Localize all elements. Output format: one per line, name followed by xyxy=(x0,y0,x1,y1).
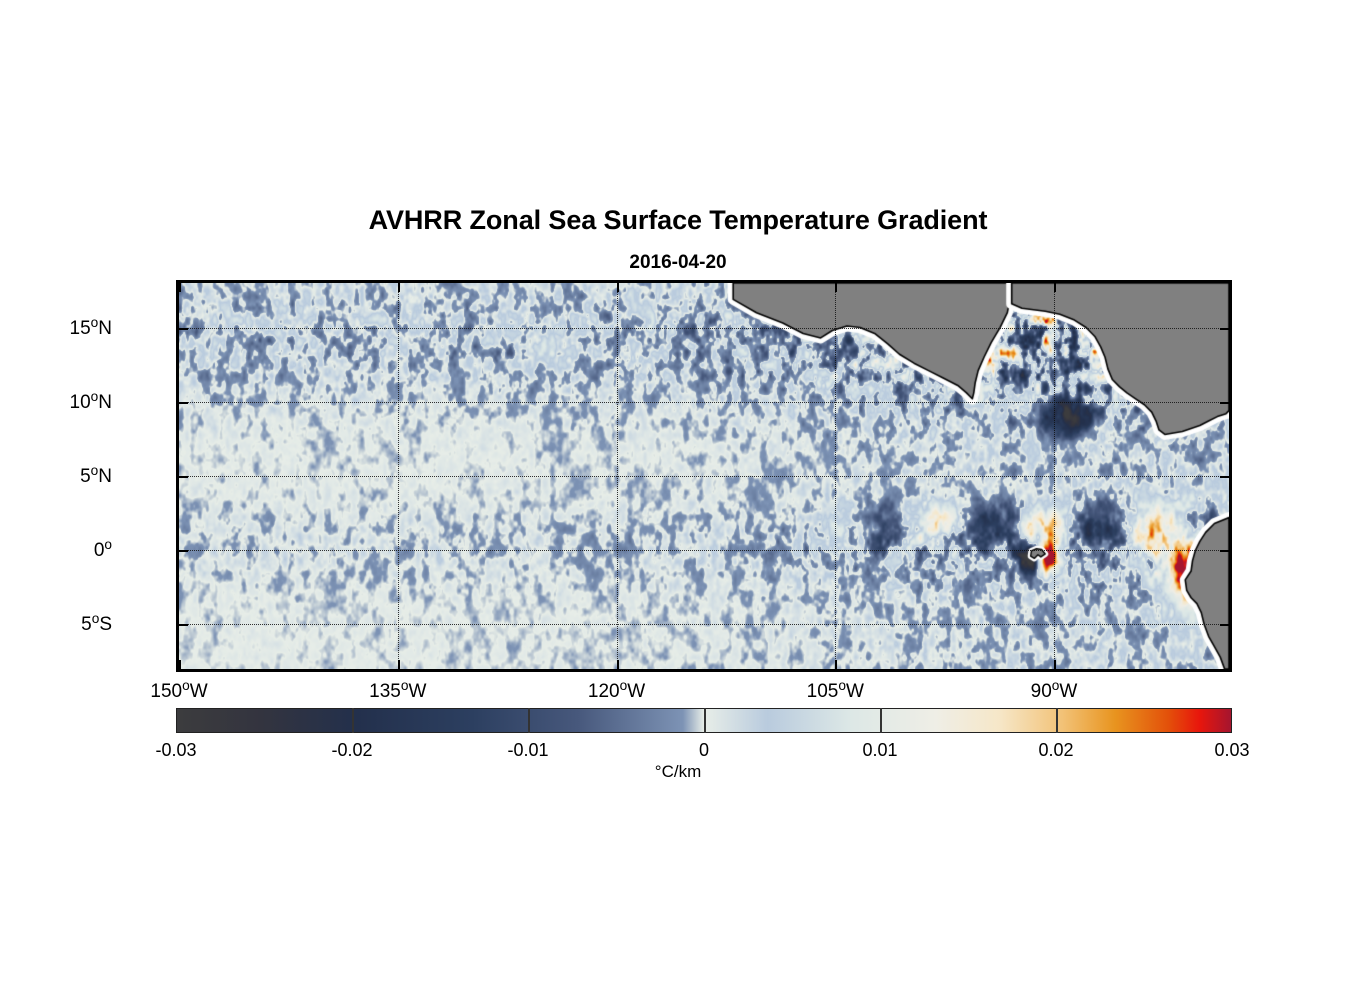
x-tick-label: 135oW xyxy=(369,678,426,703)
axis-tick xyxy=(1220,402,1229,404)
axis-tick xyxy=(179,476,188,478)
colorbar-tick-label: 0.02 xyxy=(1038,740,1073,761)
axis-tick xyxy=(1054,283,1056,292)
axis-tick xyxy=(1220,624,1229,626)
colorbar-tick xyxy=(352,708,354,733)
gridline-latitude xyxy=(179,328,1229,329)
gridline-latitude xyxy=(179,402,1229,403)
colorbar-tick-label: -0.03 xyxy=(155,740,196,761)
axis-tick xyxy=(179,328,188,330)
colorbar-tick xyxy=(880,708,882,733)
axis-tick xyxy=(1220,476,1229,478)
colorbar-tick-label: -0.01 xyxy=(507,740,548,761)
x-tick-label: 150oW xyxy=(150,678,207,703)
gridline-latitude xyxy=(179,476,1229,477)
axis-tick xyxy=(835,283,837,292)
page-title: AVHRR Zonal Sea Surface Temperature Grad… xyxy=(0,205,1356,236)
axis-tick xyxy=(179,660,181,669)
colorbar-tick xyxy=(528,708,530,733)
axis-tick xyxy=(835,660,837,669)
sst-gradient-map xyxy=(176,280,1232,672)
axis-tick xyxy=(1054,660,1056,669)
y-tick-label: 5oN xyxy=(80,463,112,488)
colorbar-tick xyxy=(1056,708,1058,733)
axis-tick xyxy=(1220,328,1229,330)
colorbar-tick xyxy=(704,708,706,733)
colorbar-tick-label: 0.03 xyxy=(1214,740,1249,761)
axis-tick xyxy=(179,550,188,552)
axis-tick xyxy=(179,402,188,404)
chart-subtitle-date: 2016-04-20 xyxy=(0,252,1356,274)
x-tick-label: 90oW xyxy=(1031,678,1078,703)
axis-tick xyxy=(179,624,188,626)
gridline-longitude xyxy=(617,283,618,669)
gridline-longitude xyxy=(1054,283,1055,669)
axis-tick xyxy=(398,283,400,292)
axis-tick xyxy=(1220,550,1229,552)
gridline-latitude xyxy=(179,624,1229,625)
axis-tick xyxy=(617,283,619,292)
axis-tick xyxy=(398,660,400,669)
gridline-longitude xyxy=(398,283,399,669)
axis-tick xyxy=(617,660,619,669)
axis-tick xyxy=(179,283,181,292)
gridline-latitude xyxy=(179,550,1229,551)
y-tick-label: 0o xyxy=(94,537,112,562)
colorbar-unit-label: °C/km xyxy=(0,762,1356,782)
y-tick-label: 15oN xyxy=(70,315,112,340)
colorbar-tick-label: -0.02 xyxy=(331,740,372,761)
x-tick-label: 105oW xyxy=(807,678,864,703)
gridline-longitude xyxy=(835,283,836,669)
y-tick-label: 5oS xyxy=(81,611,112,636)
x-tick-label: 120oW xyxy=(588,678,645,703)
colorbar-tick-label: 0 xyxy=(699,740,709,761)
y-tick-label: 10oN xyxy=(70,389,112,414)
colorbar-tick-label: 0.01 xyxy=(862,740,897,761)
